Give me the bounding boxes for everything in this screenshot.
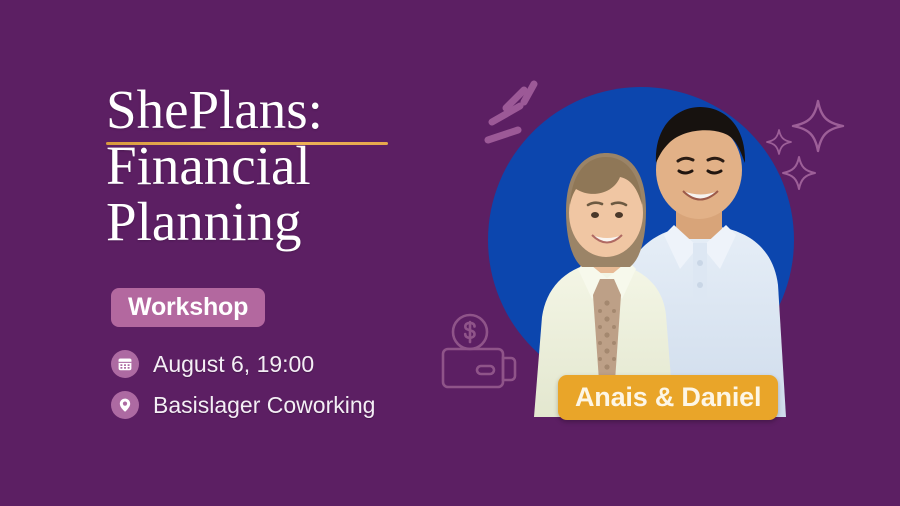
map-pin-icon [111,391,139,419]
title-line-2: Financial [106,138,436,194]
status-badge: Workshop [111,288,265,327]
calendar-icon [111,350,139,378]
title-line-1: ShePlans: [106,82,436,138]
speakers-photo [488,87,794,417]
title-underline-rule [106,142,388,145]
event-date-text: August 6, 19:00 [153,351,314,378]
event-promo-banner: Anais & Daniel ShePlans: Financial Plann… [0,0,900,506]
workshop-badge-label: Workshop [128,293,248,322]
title-line-3: Planning [106,194,436,250]
sparkle-icon [790,98,846,154]
event-location-text: Basislager Coworking [153,392,375,419]
speakers-name-plate: Anais & Daniel [558,375,778,420]
page-title: ShePlans: Financial Planning [106,82,436,250]
event-date-row: August 6, 19:00 [111,350,314,378]
event-location-row: Basislager Coworking [111,391,375,419]
speakers-name-text: Anais & Daniel [575,382,761,413]
